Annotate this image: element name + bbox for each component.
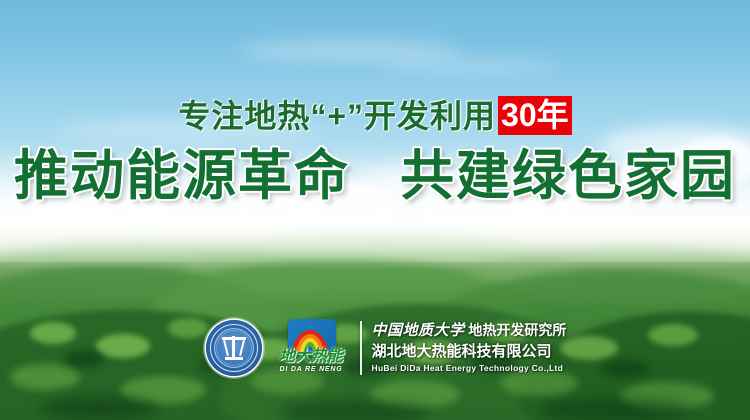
- org-line-company-en: HuBei DiDa Heat Energy Technology Co.,Lt…: [372, 362, 567, 375]
- headline-main-right: 共建绿色家园: [400, 146, 736, 206]
- geology-hammer-icon: [219, 334, 249, 362]
- headline-main: 推动能源革命 共建绿色家园: [0, 149, 750, 203]
- brand-name-cn: 地大热能: [268, 349, 354, 365]
- cloud-wisp: [380, 58, 560, 74]
- canopy-highlight: [560, 336, 618, 360]
- canopy-shadow: [600, 360, 650, 378]
- vertical-divider: [360, 321, 362, 375]
- seal-mark-bar: [239, 340, 245, 356]
- canopy-shadow: [40, 396, 160, 420]
- dida-brand-logo: 地大热能 DI DA RE NENG: [268, 319, 354, 377]
- org-line-institute: 中国地质大学 地热开发研究所: [372, 321, 567, 341]
- headline-subtitle: 专注地热 “+” 开发利用 30年: [178, 96, 571, 135]
- canopy-shadow: [280, 400, 430, 420]
- headline-quote-text: “+”: [310, 100, 364, 132]
- canopy-highlight: [168, 318, 208, 338]
- org-institute-name: 地热开发研究所: [465, 322, 567, 338]
- canopy-shadow: [540, 398, 690, 420]
- organization-text-block: 中国地质大学 地热开发研究所 湖北地大热能科技有限公司 HuBei DiDa H…: [372, 321, 567, 375]
- canopy-highlight: [96, 334, 150, 358]
- org-university-name: 中国地质大学: [372, 322, 465, 339]
- canopy-highlight: [648, 324, 698, 346]
- seal-mark-bar: [232, 336, 235, 358]
- anniversary-badge: 30年: [498, 96, 572, 135]
- headline-main-left: 推动能源革命: [14, 146, 350, 206]
- promotional-banner: 专注地热 “+” 开发利用 30年 推动能源革命 共建绿色家园: [0, 0, 750, 420]
- headline-pre-text: 专注地热: [178, 100, 310, 132]
- footer-identity-bar: 地大热能 DI DA RE NENG 中国地质大学 地热开发研究所 湖北地大热能…: [206, 316, 554, 380]
- headline-post-text: 开发利用: [364, 100, 496, 132]
- brand-name-en: DI DA RE NENG: [268, 366, 354, 373]
- seal-mark-bar: [225, 357, 243, 360]
- headline-block: 专注地热 “+” 开发利用 30年 推动能源革命 共建绿色家园: [0, 96, 750, 203]
- org-line-company-cn: 湖北地大热能科技有限公司: [372, 341, 567, 362]
- canopy-shadow: [64, 350, 104, 368]
- canopy-highlight: [10, 364, 80, 390]
- seal-mark-bar: [223, 340, 229, 356]
- canopy-highlight: [30, 322, 76, 344]
- university-seal-icon: [206, 320, 262, 376]
